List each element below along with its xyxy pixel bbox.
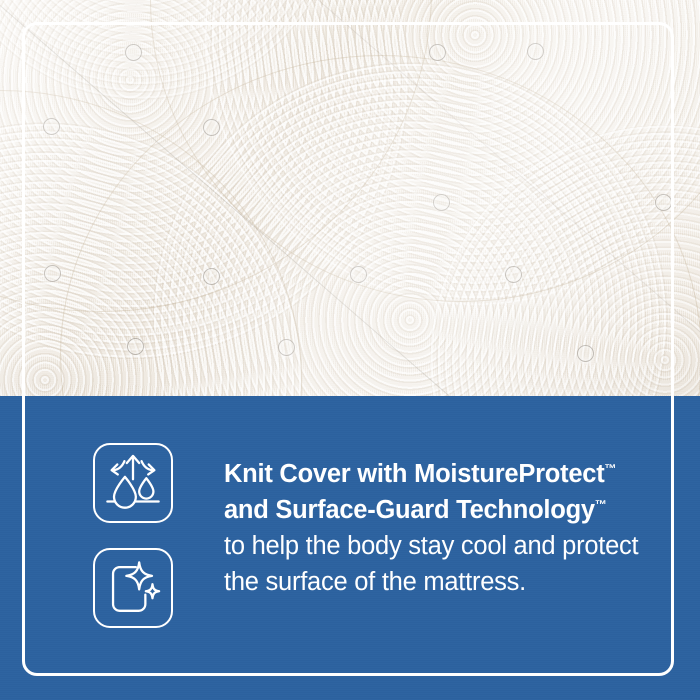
trademark-symbol: ™ — [604, 462, 616, 476]
trademark-symbol: ™ — [595, 498, 607, 512]
body-line-1: to help the body stay cool and protect — [224, 528, 664, 564]
headline-line-1: Knit Cover with MoistureProtect™ — [224, 456, 664, 492]
headline-line-1-text: Knit Cover with MoistureProtect — [224, 460, 604, 488]
headline-line-2: and Surface-Guard Technology™ — [224, 492, 664, 528]
fabric-vignette — [0, 0, 700, 396]
body-line-2: the surface of the mattress. — [224, 564, 664, 600]
product-feature-card: Knit Cover with MoistureProtect™ and Sur… — [0, 0, 700, 700]
moisture-wicking-icon — [93, 443, 173, 523]
headline-line-2-text: and Surface-Guard Technology — [224, 496, 595, 524]
feature-content: Knit Cover with MoistureProtect™ and Sur… — [0, 396, 700, 700]
feature-text-block: Knit Cover with MoistureProtect™ and Sur… — [224, 456, 664, 600]
feature-icon-column — [93, 443, 175, 628]
surface-guard-sparkle-icon — [93, 548, 173, 628]
mattress-fabric-image — [0, 0, 700, 396]
